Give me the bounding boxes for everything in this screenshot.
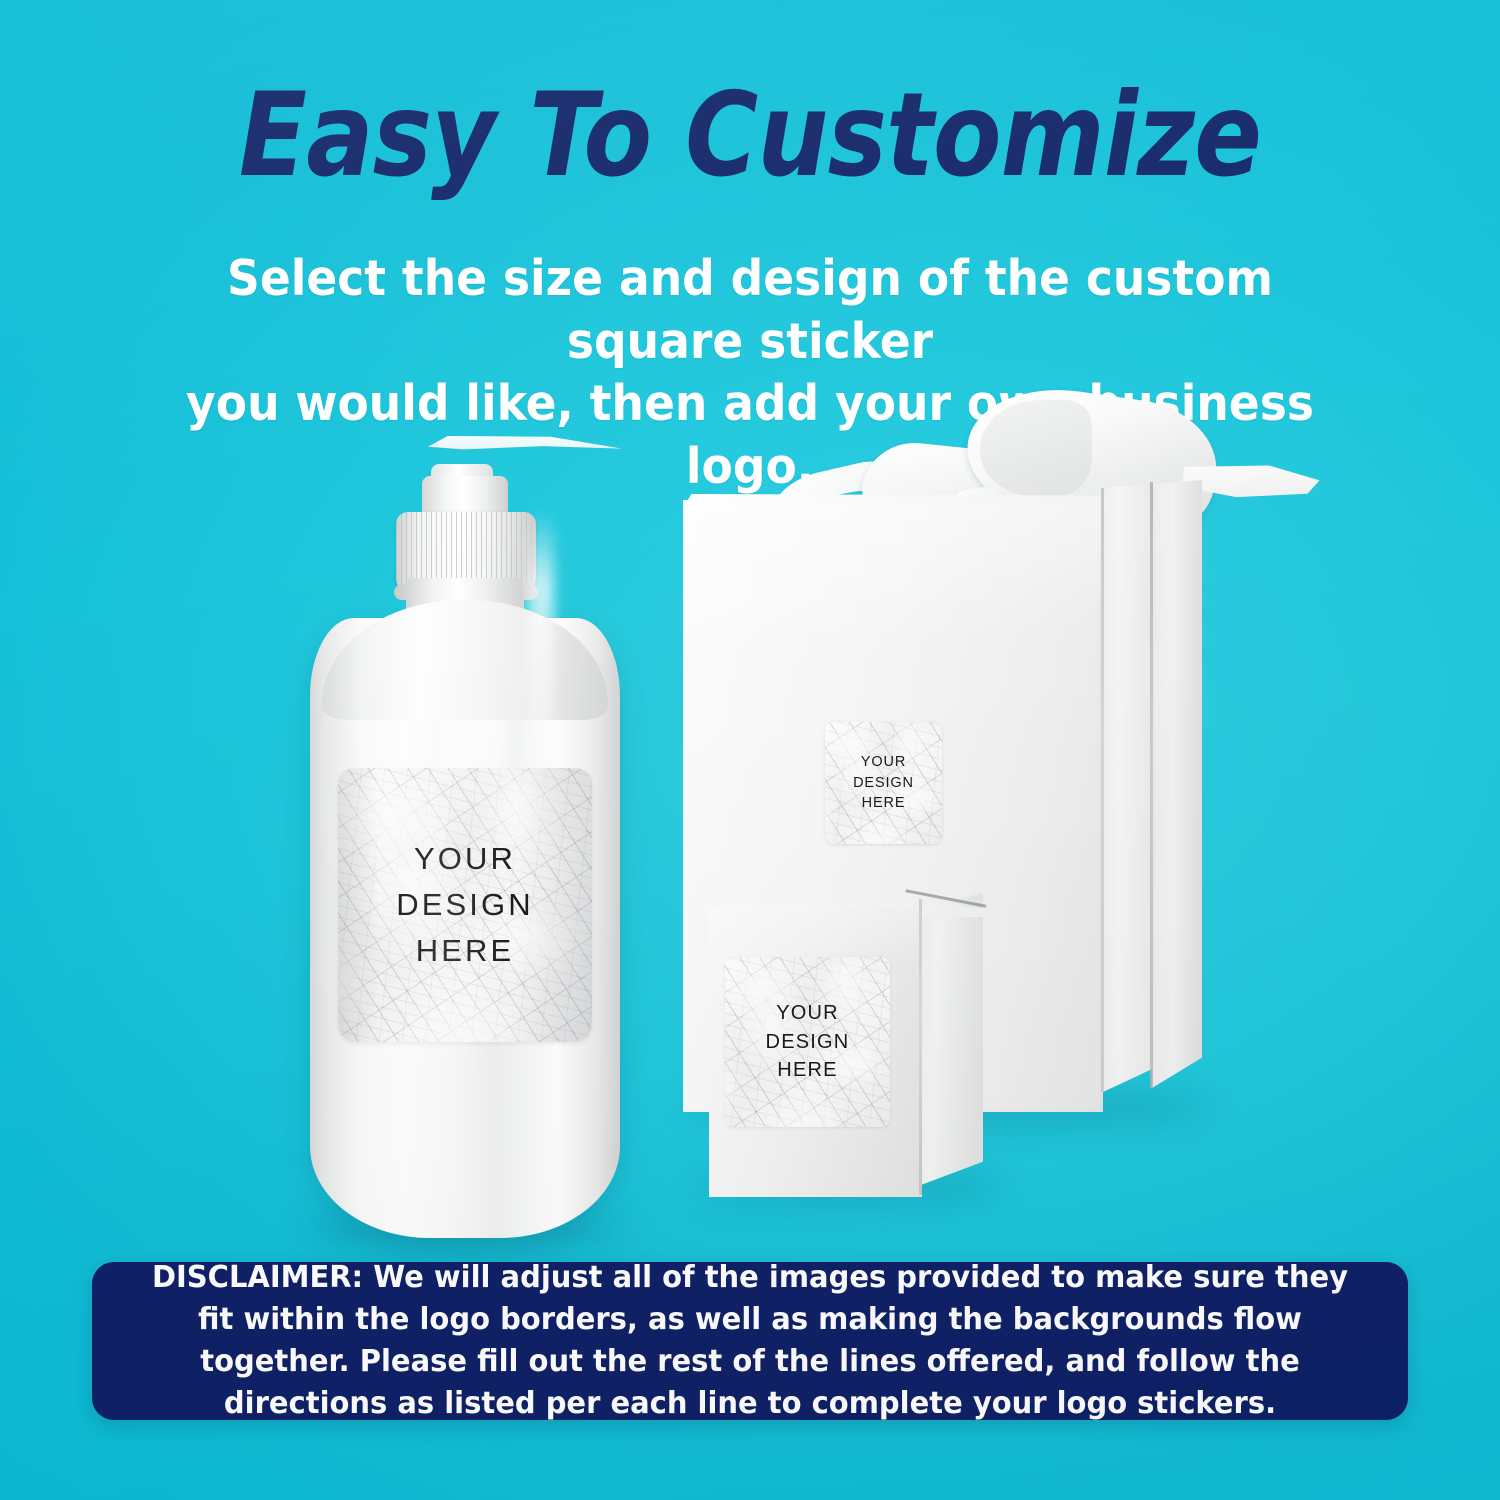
sticker-line-1: YOUR (766, 999, 850, 1027)
sticker-line-2: DESIGN (853, 773, 914, 794)
sticker-line-3: HERE (396, 928, 533, 974)
sticker-text: YOUR DESIGN HERE (766, 999, 850, 1084)
disclaimer-body: We will adjust all of the images provide… (198, 1260, 1348, 1421)
sticker-on-small-box[interactable]: YOUR DESIGN HERE (725, 957, 890, 1127)
gift-box-edge-back (1150, 482, 1153, 1088)
sticker-text: YOUR DESIGN HERE (396, 836, 533, 974)
sticker-line-1: YOUR (853, 752, 914, 773)
sticker-line-3: HERE (853, 793, 914, 814)
sticker-line-2: DESIGN (766, 1028, 850, 1056)
sticker-on-bottle[interactable]: YOUR DESIGN HERE (338, 768, 592, 1042)
bottle-highlight (528, 510, 554, 810)
sticker-line-1: YOUR (396, 836, 533, 882)
disclaimer-banner: DISCLAIMER: We will adjust all of the im… (92, 1262, 1408, 1420)
gift-box-side-front (1103, 484, 1155, 1092)
sticker-text: YOUR DESIGN HERE (853, 752, 914, 814)
gift-box-edge-front (1101, 488, 1104, 1092)
small-box-side-face (921, 893, 983, 1185)
small-box-edge (919, 899, 922, 1195)
sticker-line-3: HERE (766, 1056, 850, 1084)
promo-banner: Easy To Customize Select the size and de… (0, 0, 1500, 1500)
sticker-line-2: DESIGN (396, 882, 533, 928)
marble-texture (338, 768, 592, 1042)
gift-box-side-back (1152, 480, 1202, 1088)
small-box: YOUR DESIGN HERE (709, 893, 989, 1211)
sticker-on-gift-box[interactable]: YOUR DESIGN HERE (825, 722, 942, 844)
disclaimer-text: DISCLAIMER: We will adjust all of the im… (125, 1257, 1375, 1425)
disclaimer-label: DISCLAIMER: (152, 1260, 363, 1295)
pump-bottle: YOUR DESIGN HERE (300, 450, 630, 1240)
